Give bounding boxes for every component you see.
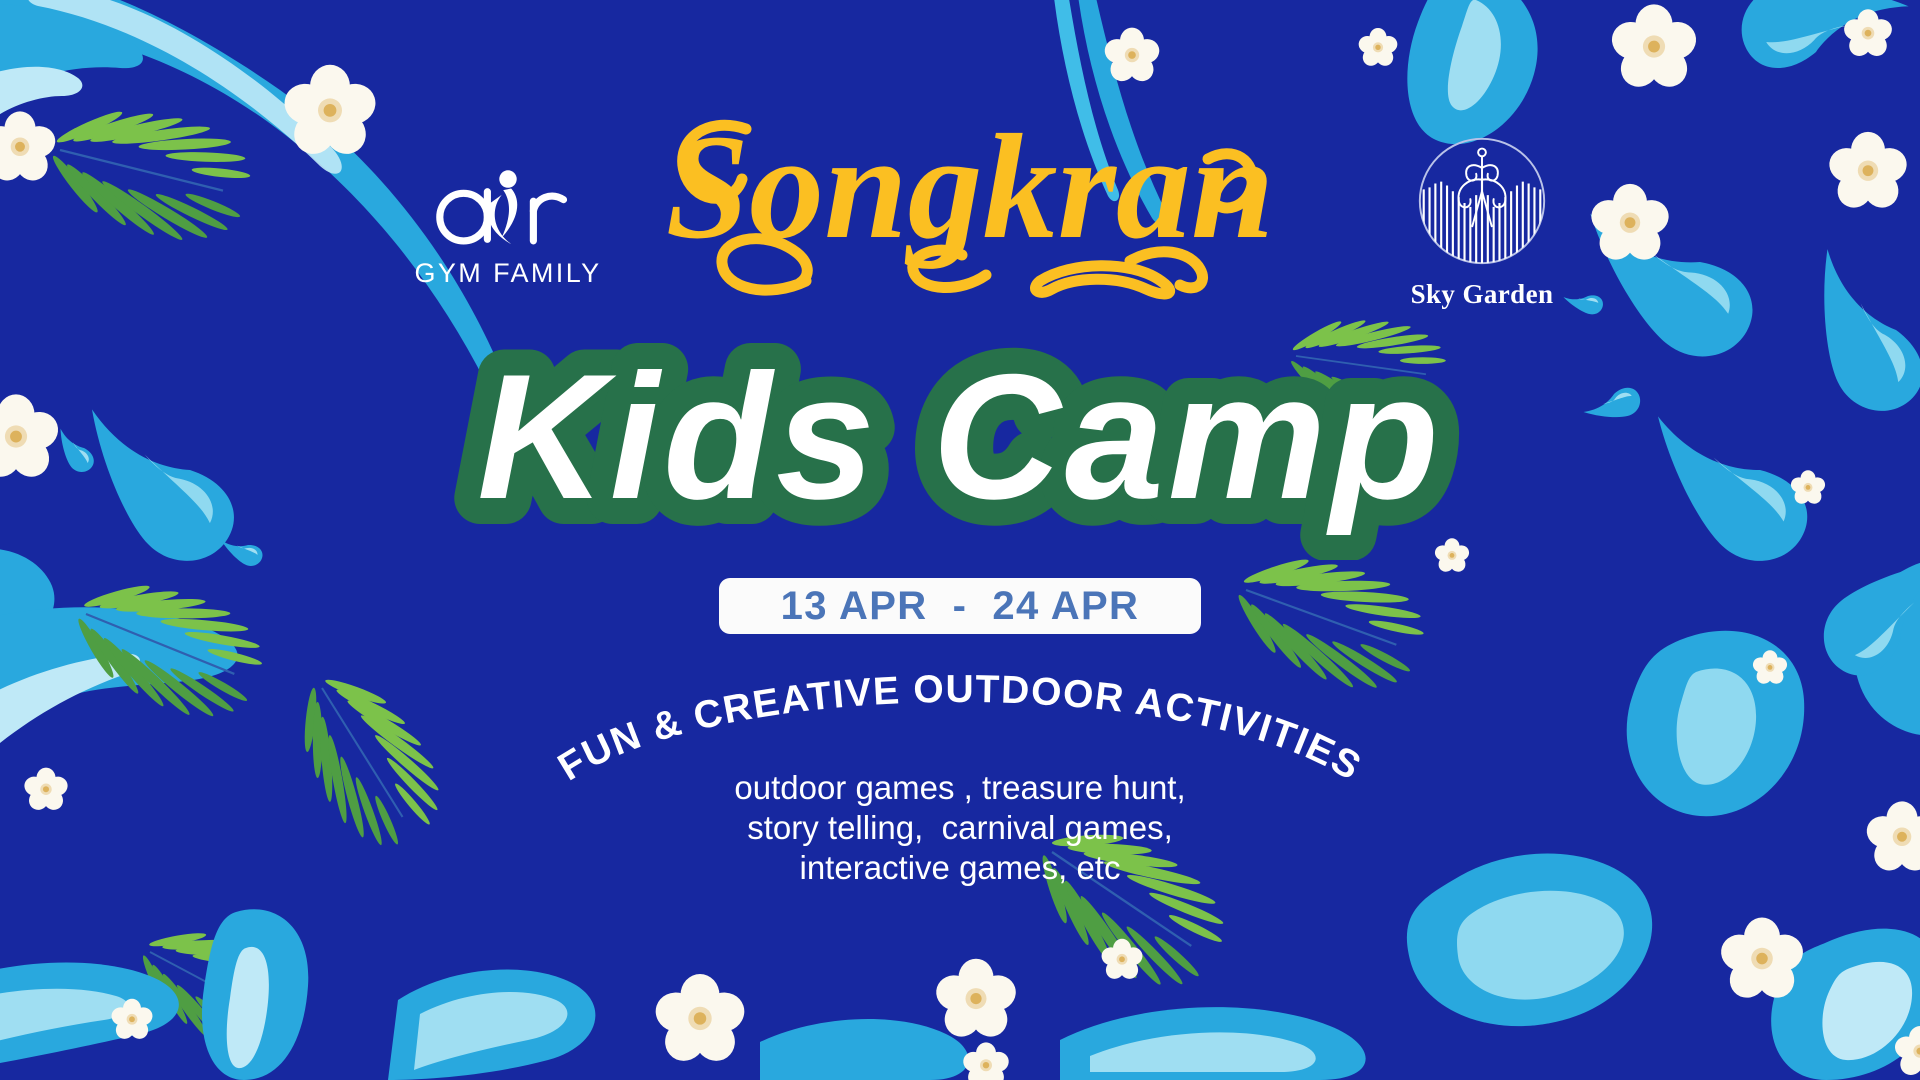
date-range-badge: 13 APR - 24 APR <box>719 578 1201 634</box>
content-layer: GYM FAMILY <box>0 0 1920 1080</box>
songkran-script-title: Songkran <box>660 85 1280 300</box>
brand-logo-air-gym-family: GYM FAMILY <box>398 160 618 289</box>
headline-kids-camp: Kids Camp Kids Camp <box>280 330 1640 560</box>
songkran-kids-camp-poster: GYM FAMILY <box>0 0 1920 1080</box>
activities-line-2: story telling, carnival games, <box>560 808 1360 848</box>
brand-logo-sky-garden: Sky Garden <box>1362 133 1602 310</box>
headline-fill-text: Kids Camp <box>477 337 1443 536</box>
activities-list: outdoor games , treasure hunt, story tel… <box>560 768 1360 888</box>
date-range-text: 13 APR - 24 APR <box>781 584 1140 629</box>
air-logo-tagline: GYM FAMILY <box>398 258 618 289</box>
sky-garden-name: Sky Garden <box>1362 279 1602 310</box>
activities-line-3: interactive games, etc <box>560 848 1360 888</box>
air-wordmark-icon <box>428 160 588 252</box>
songkran-title-text: Songkran <box>666 104 1275 270</box>
sky-garden-emblem-icon <box>1414 133 1550 269</box>
activities-line-1: outdoor games , treasure hunt, <box>560 768 1360 808</box>
